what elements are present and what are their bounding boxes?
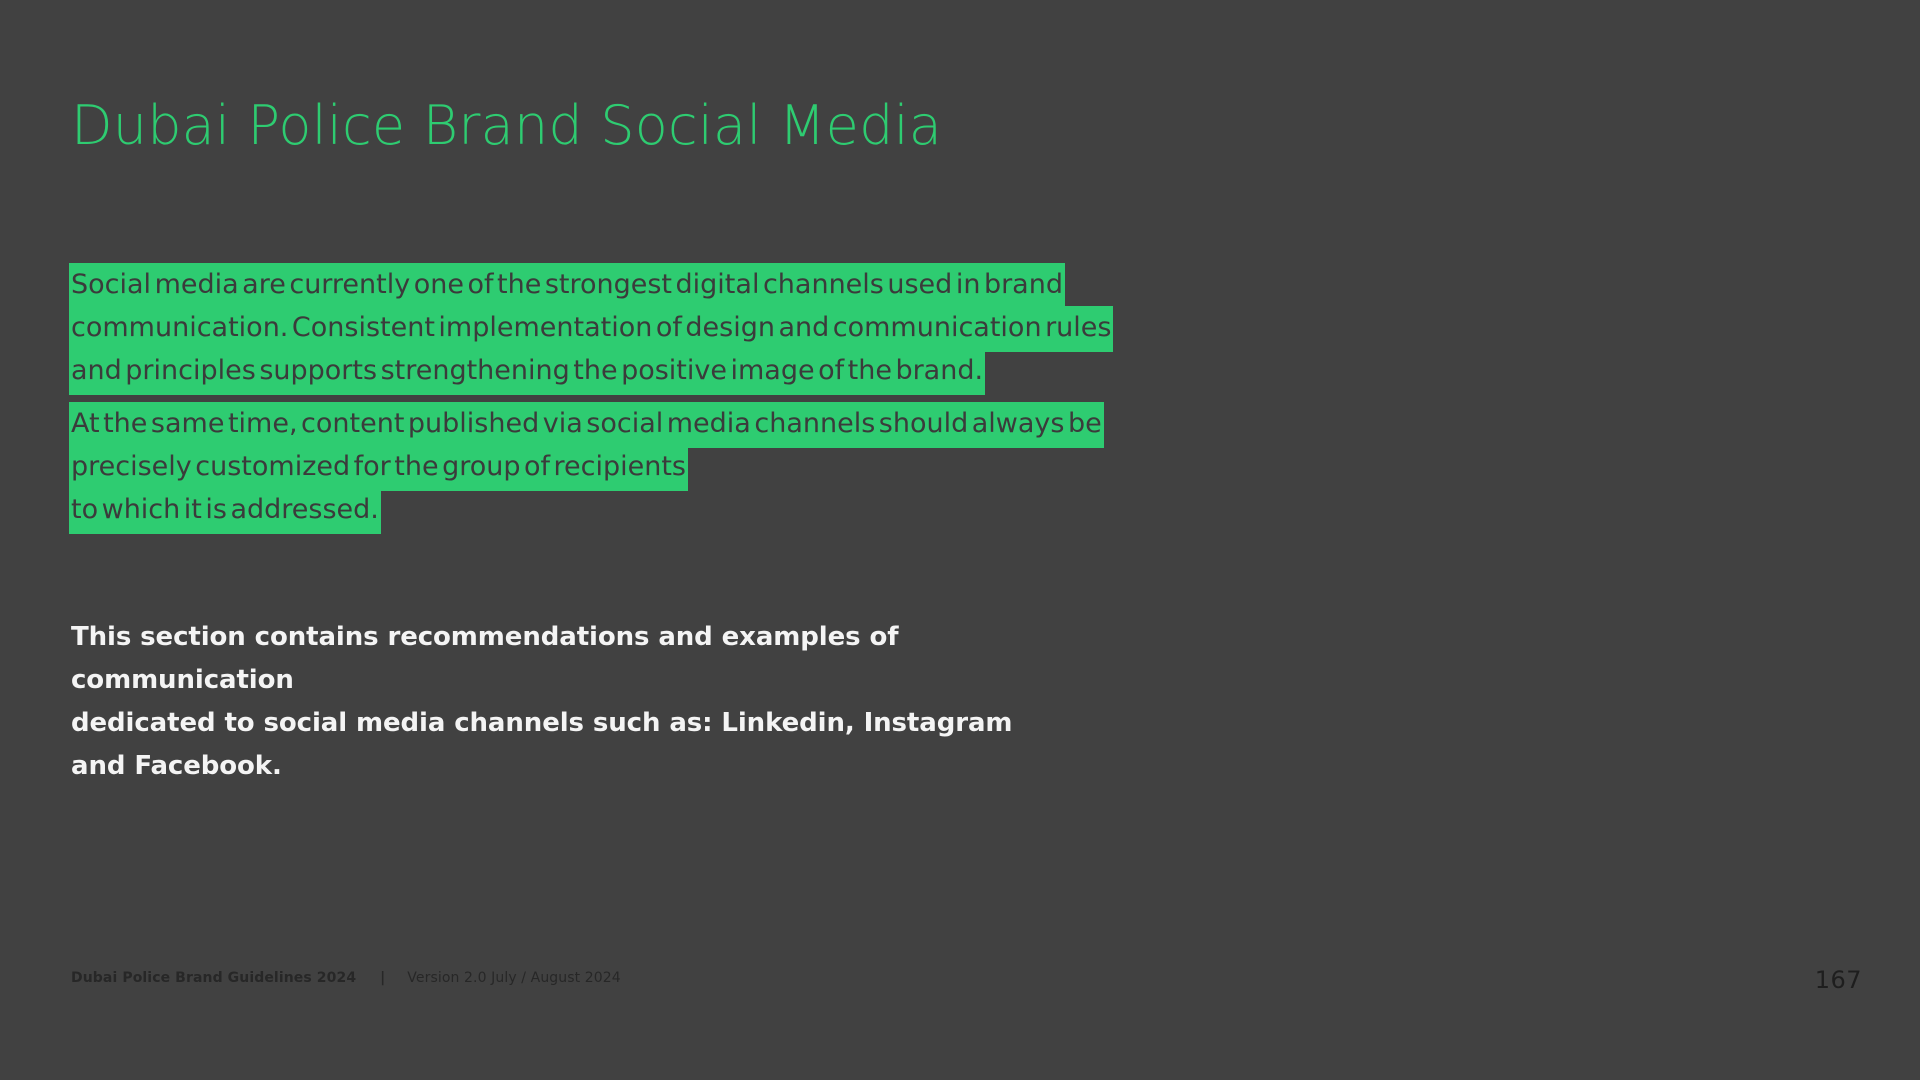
slide-canvas: Dubai Police Brand Social Media Socialme…	[0, 0, 1920, 1080]
highlighted-word: content	[301, 402, 404, 448]
highlighted-word: precisely	[71, 445, 192, 491]
footer-version-label: Version 2.0 July / August 2024	[407, 970, 621, 986]
highlighted-word: the	[103, 402, 147, 448]
footer: Dubai Police Brand Guidelines 2024 | Ver…	[71, 970, 621, 986]
highlighted-word: rules	[1045, 306, 1111, 352]
highlighted-word: of	[656, 306, 682, 352]
highlighted-word: one	[414, 263, 464, 309]
text-line: This section contains recommendations an…	[71, 616, 1051, 702]
highlighted-word: the	[497, 263, 541, 309]
highlighted-word: media	[667, 402, 751, 448]
highlighted-word: communication.	[71, 306, 288, 352]
section-scope-paragraph: This section contains recommendations an…	[71, 616, 1051, 788]
highlighted-word: to	[71, 488, 98, 534]
highlighted-word: in	[956, 263, 981, 309]
highlighted-word: of	[467, 263, 493, 309]
highlighted-word: it	[184, 488, 202, 534]
highlighted-word: same	[151, 402, 225, 448]
highlighted-word: media	[155, 263, 239, 309]
highlighted-word: time,	[228, 402, 298, 448]
highlighted-word: recipients	[554, 445, 686, 491]
customization-paragraph-text: Atthesametime,contentpublishedviasocialm…	[71, 402, 1031, 531]
intro-paragraph-text: Socialmediaarecurrentlyoneofthestrongest…	[71, 263, 1031, 392]
footer-separator: |	[380, 970, 385, 986]
highlighted-word: and	[778, 306, 829, 352]
text-line: towhichitisaddressed.	[71, 488, 1031, 531]
highlighted-word: currently	[289, 263, 410, 309]
highlighted-word: At	[71, 402, 100, 448]
highlighted-word: which	[102, 488, 181, 534]
highlighted-word: implementation	[438, 306, 652, 352]
highlighted-word: be	[1068, 402, 1102, 448]
highlighted-word: Consistent	[292, 306, 435, 352]
highlighted-word: communication	[833, 306, 1042, 352]
text-line: preciselycustomizedforthegroupofrecipien…	[71, 445, 1031, 488]
text-line: dedicated to social media channels such …	[71, 702, 1051, 788]
highlighted-word: addressed.	[230, 488, 378, 534]
highlighted-word: always	[972, 402, 1065, 448]
customization-paragraph: Atthesametime,contentpublishedviasocialm…	[71, 375, 1061, 558]
text-line: communication.Consistentimplementationof…	[71, 306, 1031, 349]
highlighted-word: brand	[984, 263, 1063, 309]
highlighted-word: social	[586, 402, 663, 448]
footer-brand-label: Dubai Police Brand Guidelines 2024	[71, 970, 356, 986]
highlighted-word: are	[242, 263, 286, 309]
page-number: 167	[1815, 966, 1862, 994]
highlighted-word: is	[205, 488, 227, 534]
text-line: Atthesametime,contentpublishedviasocialm…	[71, 402, 1031, 445]
highlighted-word: design	[685, 306, 775, 352]
highlighted-word: group	[442, 445, 520, 491]
highlighted-word: via	[543, 402, 583, 448]
page-title: Dubai Police Brand Social Media	[71, 98, 942, 155]
highlighted-word: published	[408, 402, 539, 448]
highlighted-word: should	[879, 402, 968, 448]
highlighted-word: of	[524, 445, 550, 491]
highlighted-word: for	[354, 445, 391, 491]
highlighted-word: digital	[676, 263, 760, 309]
highlighted-word: Social	[71, 263, 151, 309]
highlighted-word: strongest	[545, 263, 672, 309]
text-line: Socialmediaarecurrentlyoneofthestrongest…	[71, 263, 1031, 306]
highlighted-word: channels	[763, 263, 884, 309]
highlighted-word: used	[887, 263, 952, 309]
highlighted-word: channels	[754, 402, 875, 448]
highlighted-word: the	[394, 445, 438, 491]
highlighted-word: customized	[195, 445, 350, 491]
